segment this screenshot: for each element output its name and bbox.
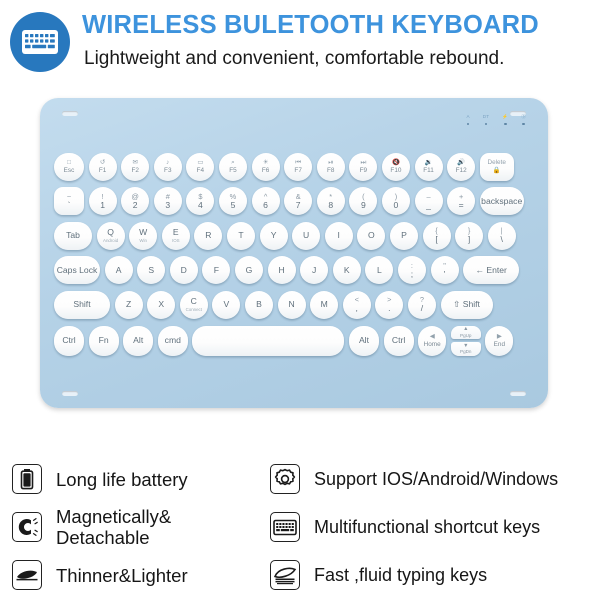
key-semicolon-label: ;: [411, 270, 413, 279]
key-j-label: J: [312, 266, 316, 275]
key-t-label: T: [238, 231, 243, 240]
key-l[interactable]: L: [365, 256, 393, 284]
key-g[interactable]: G: [235, 256, 263, 284]
key-9-label: 9: [361, 201, 366, 210]
key-f12[interactable]: 🔊F12: [447, 153, 475, 181]
key-0-label: 0: [394, 201, 399, 210]
key-caps-lock-label: Caps Lock: [57, 266, 98, 275]
key-n[interactable]: N: [278, 291, 306, 319]
key-e[interactable]: EIOS: [162, 222, 190, 250]
key-r-label: R: [205, 231, 211, 240]
key-tilde[interactable]: ~`: [54, 187, 84, 215]
key-enter[interactable]: ← Enter: [463, 256, 519, 284]
key-r[interactable]: R: [194, 222, 222, 250]
bluetooth-led: ⓑ: [521, 114, 526, 125]
key-c[interactable]: CConnect: [180, 291, 208, 319]
qwerty-row: TabQAndroidWWinEIOSRTYUIOP{[}]|\: [40, 219, 548, 252]
key-b[interactable]: B: [245, 291, 273, 319]
key-h-label: H: [278, 266, 284, 275]
key-f5-label: F5: [229, 167, 236, 174]
key-f4[interactable]: ▭F4: [186, 153, 214, 181]
key-0[interactable]: )0: [382, 187, 410, 215]
key-w-sublabel: Win: [139, 238, 147, 243]
key-tab-label: Tab: [66, 231, 80, 240]
key-tab[interactable]: Tab: [54, 222, 92, 250]
charge-led-label: ⚡: [502, 114, 508, 120]
key-f6[interactable]: ☀F6: [252, 153, 280, 181]
key-esc-label: Esc: [64, 167, 75, 174]
key-f5-top-glyph: ⌕: [231, 159, 235, 166]
key-alt-right-label: Alt: [359, 336, 369, 345]
key-z-label: Z: [126, 300, 131, 309]
key-f1-top-glyph: ↺: [100, 159, 105, 166]
key-p-label: P: [401, 231, 407, 240]
feature-item: Multifunctional shortcut keys: [265, 503, 600, 551]
key-s-label: S: [148, 266, 154, 275]
magnet-icon: [12, 512, 42, 542]
key-k-label: K: [344, 266, 350, 275]
key-l-label: L: [377, 266, 382, 275]
key-bracket-left[interactable]: {[: [423, 222, 451, 250]
feature-label: Magnetically&Detachable: [42, 506, 171, 548]
caps-lock-led: A: [466, 114, 469, 125]
key-backslash[interactable]: |\: [488, 222, 516, 250]
key-f12-top-glyph: 🔊: [457, 159, 465, 166]
keyboard-key-rows: □Esc↺F1✉F2♪F3▭F4⌕F5☀F6⏮F7⏯F8⏭F9🔇F10🔉F11🔊…: [40, 150, 548, 360]
key-f6-label: F6: [262, 167, 269, 174]
key-7-label: 7: [296, 201, 301, 210]
key-cmd-label: cmd: [165, 336, 181, 345]
key-z[interactable]: Z: [115, 291, 143, 319]
key-backspace-label: backspace: [481, 197, 522, 206]
key-d[interactable]: D: [170, 256, 198, 284]
key-esc[interactable]: □Esc: [54, 153, 84, 181]
key-f9-label: F9: [360, 167, 367, 174]
key-minus-label: _: [426, 201, 431, 210]
key-bracket-right-label: ]: [468, 235, 470, 244]
number-row: ~`!1@2#3$4%5^6&7*8(9)0–_+=backspace: [40, 185, 548, 218]
led-indicator-group: ADT⚡ⓑ: [466, 114, 526, 125]
key-9[interactable]: (9: [349, 187, 377, 215]
key-f7[interactable]: ⏮F7: [284, 153, 312, 181]
key-p[interactable]: P: [390, 222, 418, 250]
key-m[interactable]: M: [310, 291, 338, 319]
key-f9[interactable]: ⏭F9: [349, 153, 377, 181]
key-f9-top-glyph: ⏭: [360, 159, 366, 166]
key-shift-left[interactable]: Shift: [54, 291, 110, 319]
key-e-label: E: [173, 228, 179, 237]
key-o[interactable]: O: [357, 222, 385, 250]
key-t[interactable]: T: [227, 222, 255, 250]
key-period[interactable]: >.: [375, 291, 403, 319]
key-8[interactable]: *8: [317, 187, 345, 215]
key-equal[interactable]: +=: [447, 187, 475, 215]
key-i[interactable]: I: [325, 222, 353, 250]
key-enter-label: ← Enter: [475, 266, 507, 275]
key-cmd[interactable]: cmd: [158, 326, 188, 356]
key-backspace[interactable]: backspace: [480, 187, 524, 215]
key-o-label: O: [368, 231, 375, 240]
key-1[interactable]: !1: [89, 187, 117, 215]
key-f5[interactable]: ⌕F5: [219, 153, 247, 181]
key-ctrl-left[interactable]: Ctrl: [54, 326, 84, 356]
key-8-label: 8: [328, 201, 333, 210]
key-ctrl-right[interactable]: Ctrl: [384, 326, 414, 356]
key-quote[interactable]: "': [431, 256, 459, 284]
charge-led: ⚡: [502, 114, 508, 125]
key-c-label: C: [191, 297, 197, 306]
header-text-group: WIRELESS BULETOOTH KEYBOARD Lightweight …: [70, 10, 594, 72]
feature-label: Support IOS/Android/Windows: [300, 469, 558, 490]
key-equal-label: =: [459, 201, 464, 210]
key-f7-top-glyph: ⏮: [295, 159, 301, 166]
key-d-label: D: [181, 266, 187, 275]
thin-laptop-icon: [12, 560, 42, 590]
key-shift-right-label: ⇧ Shift: [453, 300, 480, 309]
key-x[interactable]: X: [147, 291, 175, 319]
key-right-end-top-glyph: ▶: [497, 333, 502, 340]
page-subtitle: Lightweight and convenient, comfortable …: [82, 40, 594, 72]
feature-item: Fast ,fluid typing keys: [265, 551, 600, 599]
key-y-label: Y: [271, 231, 277, 240]
key-5-label: 5: [231, 201, 236, 210]
key-f1-label: F1: [99, 167, 106, 174]
key-e-sublabel: IOS: [172, 238, 180, 243]
page-header: WIRELESS BULETOOTH KEYBOARD Lightweight …: [0, 0, 600, 88]
key-bracket-left-label: [: [435, 235, 437, 244]
caps-lock-led-dot: [467, 123, 470, 126]
key-alt-right[interactable]: Alt: [349, 326, 379, 356]
keyboard-icon: [10, 12, 70, 72]
key-q-label: Q: [107, 228, 114, 237]
key-slash-label: /: [421, 304, 423, 313]
key-alt-left[interactable]: Alt: [123, 326, 153, 356]
connect-led-dot: [485, 123, 488, 126]
key-w[interactable]: WWin: [129, 222, 157, 250]
key-comma-label: ,: [356, 304, 358, 313]
connect-led: DT: [483, 114, 490, 125]
gear-icon: [270, 464, 300, 494]
key-f11[interactable]: 🔉F11: [415, 153, 443, 181]
key-5[interactable]: %5: [219, 187, 247, 215]
key-4-label: 4: [198, 201, 203, 210]
key-c-sublabel: Connect: [186, 307, 202, 312]
feature-item: Thinner&Lighter: [0, 551, 265, 599]
key-updown-page[interactable]: ▲PgUp▼PgDn: [451, 326, 481, 356]
key-f-label: F: [214, 266, 219, 275]
key-down-pgdn[interactable]: ▼PgDn: [451, 342, 481, 356]
key-m-label: M: [321, 300, 328, 309]
key-bracket-right[interactable]: }]: [455, 222, 483, 250]
feature-column-right: Support IOS/Android/WindowsMultifunction…: [265, 455, 600, 600]
key-comma[interactable]: <,: [343, 291, 371, 319]
key-shift-right[interactable]: ⇧ Shift: [441, 291, 493, 319]
key-tilde-label: `: [68, 201, 71, 210]
key-v[interactable]: V: [212, 291, 240, 319]
keyboard-foot-bottom-left: [62, 391, 78, 396]
key-up-pgup[interactable]: ▲PgUp: [451, 326, 481, 340]
key-f3-top-glyph: ♪: [166, 159, 169, 166]
key-f3[interactable]: ♪F3: [154, 153, 182, 181]
key-2[interactable]: @2: [121, 187, 149, 215]
key-f12-label: F12: [456, 167, 467, 174]
keyboard-image: ADT⚡ⓑ □Esc↺F1✉F2♪F3▭F4⌕F5☀F6⏮F7⏯F8⏭F9🔇F1…: [0, 88, 600, 418]
charge-led-dot: [504, 123, 507, 126]
key-f4-top-glyph: ▭: [197, 159, 203, 166]
key-q[interactable]: QAndroid: [97, 222, 125, 250]
key-esc-top-glyph: □: [67, 159, 71, 166]
key-3[interactable]: #3: [154, 187, 182, 215]
keyboard-foot-top-left: [62, 111, 78, 116]
caps-lock-led-label: A: [466, 114, 469, 120]
feature-label: Thinner&Lighter: [42, 565, 188, 586]
key-minus[interactable]: –_: [415, 187, 443, 215]
key-right-end[interactable]: ▶End: [485, 326, 513, 356]
key-1-label: 1: [100, 201, 105, 210]
key-f11-label: F11: [423, 167, 434, 174]
key-fn-label: Fn: [99, 336, 109, 345]
key-caps-lock[interactable]: Caps Lock: [54, 256, 100, 284]
key-delete-top-glyph: Delete: [487, 159, 505, 166]
key-f8-top-glyph: ⏯: [328, 159, 333, 166]
feature-label: Fast ,fluid typing keys: [300, 565, 487, 586]
key-backslash-label: \: [501, 235, 503, 244]
key-a-label: A: [116, 266, 122, 275]
key-u[interactable]: U: [292, 222, 320, 250]
key-i-label: I: [338, 231, 340, 240]
key-delete-label: 🔒: [493, 167, 501, 174]
feature-label: Multifunctional shortcut keys: [300, 517, 540, 538]
key-7[interactable]: &7: [284, 187, 312, 215]
shift-row: ShiftZXCConnectVBNM<,>.?/⇧ Shift: [40, 288, 548, 321]
key-6-label: 6: [263, 201, 268, 210]
key-k[interactable]: K: [333, 256, 361, 284]
key-f10-top-glyph: 🔇: [392, 159, 400, 166]
bluetooth-led-dot: [522, 123, 525, 126]
key-shift-left-label: Shift: [73, 300, 90, 309]
key-ctrl-left-label: Ctrl: [62, 336, 75, 345]
page-title: WIRELESS BULETOOTH KEYBOARD: [82, 10, 594, 40]
key-w-label: W: [139, 228, 147, 237]
function-row: □Esc↺F1✉F2♪F3▭F4⌕F5☀F6⏮F7⏯F8⏭F9🔇F10🔉F11🔊…: [40, 150, 548, 183]
key-semicolon[interactable]: :;: [398, 256, 426, 284]
key-6[interactable]: ^6: [252, 187, 280, 215]
key-f2[interactable]: ✉F2: [121, 153, 149, 181]
key-delete[interactable]: Delete🔒: [480, 153, 514, 181]
connect-led-label: DT: [483, 114, 490, 120]
key-g-label: G: [246, 266, 253, 275]
key-slash[interactable]: ?/: [408, 291, 436, 319]
key-fn[interactable]: Fn: [89, 326, 119, 356]
key-left-home[interactable]: ◀Home: [418, 326, 446, 356]
battery-icon: [12, 464, 42, 494]
key-right-end-label: End: [494, 341, 505, 348]
feature-label: Long life battery: [42, 469, 188, 490]
key-h[interactable]: H: [268, 256, 296, 284]
feature-item: Magnetically&Detachable: [0, 503, 265, 551]
key-2-label: 2: [133, 201, 138, 210]
key-period-label: .: [388, 304, 390, 313]
key-a[interactable]: A: [105, 256, 133, 284]
key-alt-left-label: Alt: [133, 336, 143, 345]
key-f2-label: F2: [131, 167, 138, 174]
typing-keys-icon: [270, 560, 300, 590]
feature-item: Long life battery: [0, 455, 265, 503]
key-left-home-top-glyph: ◀: [430, 333, 435, 340]
key-f8[interactable]: ⏯F8: [317, 153, 345, 181]
key-f3-label: F3: [164, 167, 171, 174]
key-s[interactable]: S: [137, 256, 165, 284]
key-space[interactable]: [192, 326, 344, 356]
key-4[interactable]: $4: [186, 187, 214, 215]
bluetooth-led-label: ⓑ: [521, 114, 526, 120]
keyboard-icon: [270, 512, 300, 542]
key-f1[interactable]: ↺F1: [89, 153, 117, 181]
key-y[interactable]: Y: [260, 222, 288, 250]
keyboard-foot-bottom-right: [510, 391, 526, 396]
key-f11-top-glyph: 🔉: [425, 159, 433, 166]
feature-list: Long life batteryMagnetically&Detachable…: [0, 455, 600, 600]
key-f7-label: F7: [294, 167, 301, 174]
key-f8-label: F8: [327, 167, 334, 174]
key-ctrl-right-label: Ctrl: [392, 336, 405, 345]
key-f4-label: F4: [197, 167, 204, 174]
key-f10-label: F10: [390, 167, 401, 174]
bottom-row: CtrlFnAltcmdAltCtrl◀Home▲PgUp▼PgDn▶End: [40, 323, 548, 359]
keyboard-body: ADT⚡ⓑ □Esc↺F1✉F2♪F3▭F4⌕F5☀F6⏮F7⏯F8⏭F9🔇F1…: [40, 98, 548, 408]
home-row: Caps LockASDFGHJKL:;"'← Enter: [40, 254, 548, 287]
key-f6-top-glyph: ☀: [263, 159, 269, 166]
key-f10[interactable]: 🔇F10: [382, 153, 410, 181]
key-f2-top-glyph: ✉: [133, 159, 138, 166]
key-3-label: 3: [165, 201, 170, 210]
key-b-label: B: [256, 300, 262, 309]
key-quote-label: ': [444, 270, 446, 279]
key-q-sublabel: Android: [103, 238, 118, 243]
key-x-label: X: [158, 300, 164, 309]
key-f[interactable]: F: [202, 256, 230, 284]
key-v-label: V: [224, 300, 230, 309]
key-left-home-label: Home: [424, 341, 441, 348]
feature-column-left: Long life batteryMagnetically&Detachable…: [0, 455, 265, 600]
key-n-label: N: [288, 300, 294, 309]
key-u-label: U: [303, 231, 309, 240]
feature-item: Support IOS/Android/Windows: [265, 455, 600, 503]
key-j[interactable]: J: [300, 256, 328, 284]
